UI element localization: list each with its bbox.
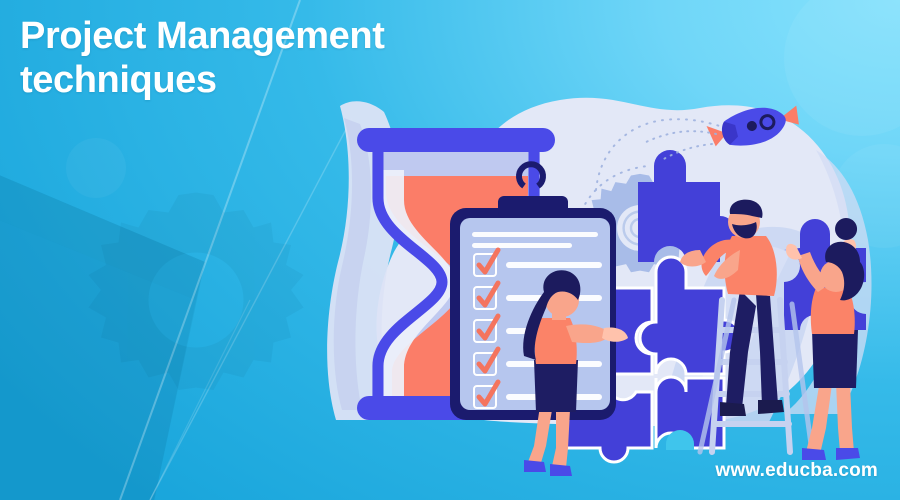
rocket-icon bbox=[705, 98, 803, 154]
site-url-label: www.educba.com bbox=[715, 460, 878, 482]
banner-root: Project Management techniques www.educba… bbox=[0, 0, 900, 500]
page-title: Project Management techniques bbox=[20, 14, 560, 102]
rocket-trail bbox=[646, 131, 716, 160]
